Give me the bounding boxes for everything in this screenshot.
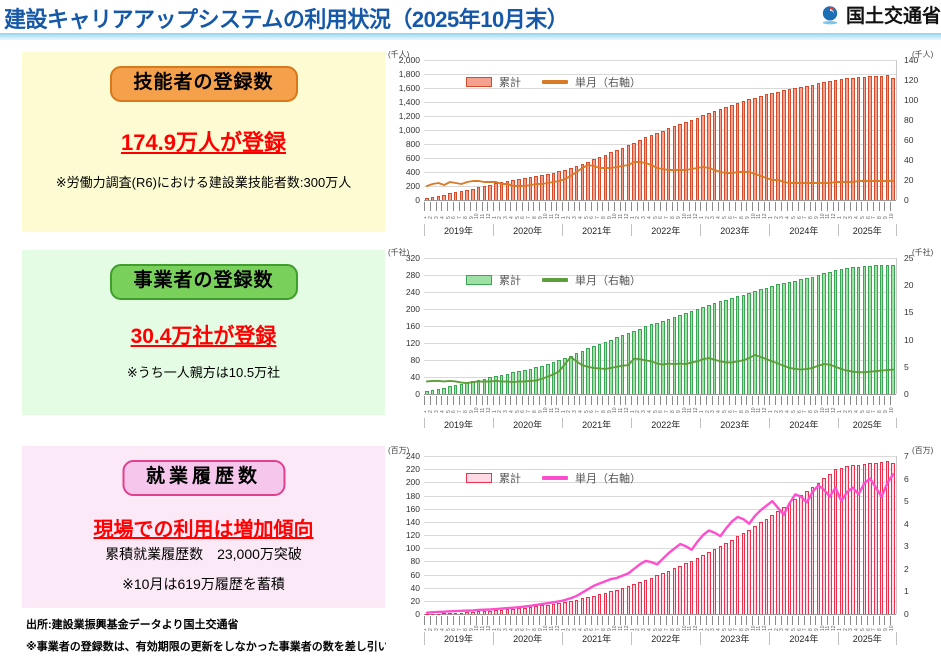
gridline [424,614,896,615]
gridline [424,394,896,395]
panel-business-registrations: 事業者の登録数 30.4万社が登録 ※うち一人親方は10.5万社 [22,250,385,415]
month-label: 10 [890,213,895,219]
panel-work-history: 就業履歴数 現場での利用は増加傾向 累積就業履歴数 23,000万突破 ※10月… [22,446,385,608]
y-axis-tick-left: 100 [386,543,420,553]
y-axis-tick-left: 120 [386,530,420,540]
month-tick [545,396,546,405]
month-tick [677,396,678,405]
month-tick [579,396,580,405]
y-axis-tick-right: 100 [904,95,918,105]
month-tick [505,202,506,211]
month-tick [873,396,874,405]
y-axis-tick-left: 1,600 [386,83,420,93]
legend-label-monthly: 単月（右軸） [575,470,641,486]
y-axis-tick-left: 60 [386,570,420,580]
chart-legend: 累計単月（右軸） [466,470,641,486]
month-tick [821,396,822,405]
month-label: 4 [441,628,446,631]
month-tick [625,202,626,211]
month-tick [620,202,621,211]
chart-legend: 累計単月（右軸） [466,74,641,90]
month-tick [695,396,696,405]
month-tick [815,202,816,211]
month-label: 9 [677,216,682,219]
legend-line-monthly [542,80,568,83]
x-axis-month-labels: 1234567891011121234567891011121234567891… [424,624,896,631]
month-tick [798,396,799,405]
page-header: 建設キャリアアップシステムの利用状況（2025年10月末） 国土交通省 [0,0,941,40]
y-axis-tick-left: 600 [386,153,420,163]
y-axis-tick-left: 40 [386,372,420,382]
month-tick [752,202,753,211]
month-tick [729,396,730,405]
month-tick [568,202,569,211]
y-axis-tick-right: 3 [904,541,909,551]
month-tick [666,202,667,211]
y-axis-tick-left: 200 [386,304,420,314]
month-tick [441,396,442,405]
month-tick [804,396,805,405]
month-tick [758,396,759,405]
year-separator [838,632,839,645]
legend-label-monthly: 単月（右軸） [575,272,641,288]
chart-legend: 累計単月（右軸） [466,272,641,288]
month-tick [447,396,448,405]
y-axis-tick-left: 2,000 [386,55,420,65]
month-tick [493,202,494,211]
month-tick [528,396,529,405]
month-tick [505,396,506,405]
plot-right-border [896,456,897,614]
month-tick [821,202,822,211]
badge-business-registrations: 事業者の登録数 [109,264,297,300]
month-label: 9 [677,410,682,413]
month-tick [867,396,868,405]
month-tick [648,396,649,405]
badge-work-history: 就業履歴数 [122,460,285,496]
month-tick [700,202,701,211]
month-tick [867,202,868,211]
year-label: 2019年 [424,632,493,645]
month-label: 4 [441,410,446,413]
month-tick [752,396,753,405]
month-tick [735,396,736,405]
chart-business-registrations: (千社)(千社)04080120160200240280320051015202… [386,236,941,428]
y-axis-tick-left: 1,200 [386,111,420,121]
year-label: 2023年 [700,632,769,645]
month-tick [528,202,529,211]
month-tick [833,202,834,211]
month-tick [516,396,517,405]
month-tick [741,202,742,211]
month-tick [464,396,465,405]
month-tick [453,396,454,405]
month-tick [447,202,448,211]
month-tick [781,396,782,405]
y-axis-tick-left: 800 [386,139,420,149]
y-axis-tick-left: 240 [386,287,420,297]
year-label: 2024年 [769,632,838,645]
month-tick [706,396,707,405]
y-axis-tick-left: 80 [386,556,420,566]
month-tick [810,202,811,211]
month-tick [729,202,730,211]
month-tick [608,396,609,405]
month-tick [522,396,523,405]
legend-swatch-cumulative [466,275,492,285]
month-label: 10 [890,625,895,631]
month-tick [579,202,580,211]
month-tick [539,396,540,405]
month-tick [850,396,851,405]
month-tick [562,202,563,211]
year-label: 2025年 [838,632,896,645]
month-tick [718,202,719,211]
x-axis-month-ticks [424,396,896,405]
month-tick [482,396,483,405]
month-tick [683,396,684,405]
y-axis-tick-right: 120 [904,75,918,85]
month-tick [424,202,425,211]
month-tick [890,202,891,211]
month-tick [712,396,713,405]
month-tick [827,202,828,211]
year-label: 2021年 [562,632,631,645]
month-tick [643,202,644,211]
month-tick [510,396,511,405]
year-label: 2020年 [493,632,562,645]
bar-cumulative [425,614,429,615]
legend-line-monthly [542,278,568,281]
y-axis-tick-left: 180 [386,491,420,501]
header-divider [0,33,941,40]
month-tick [585,202,586,211]
y-axis-tick-right: 15 [904,307,913,317]
month-tick [591,202,592,211]
month-tick [706,202,707,211]
month-tick [545,202,546,211]
month-tick [764,396,765,405]
year-separator [493,632,494,645]
month-tick [792,396,793,405]
legend-label-cumulative: 累計 [499,470,521,486]
y-axis-tick-left: 200 [386,477,420,487]
month-tick [804,202,805,211]
y-axis-tick-left: 140 [386,517,420,527]
month-tick [625,396,626,405]
month-tick [637,202,638,211]
month-tick [746,202,747,211]
month-label: 9 [677,628,682,631]
month-tick [487,202,488,211]
y-axis-tick-left: 220 [386,464,420,474]
y-axis-tick-right: 10 [904,335,913,345]
month-tick [499,396,500,405]
y-axis-tick-right: 25 [904,253,913,263]
month-tick [775,396,776,405]
month-tick [764,202,765,211]
legend-line-monthly [542,476,568,479]
month-tick [482,202,483,211]
chart-skilled-registrations: (千人)(千人)02004006008001,0001,2001,4001,60… [386,48,941,236]
month-tick [890,396,891,405]
y-axis-unit-right: (千社) [912,247,933,258]
month-tick [884,396,885,405]
month-tick [827,396,828,405]
month-tick [654,396,655,405]
month-tick [591,396,592,405]
x-axis-month-labels: 1234567891011121234567891011121234567891… [424,212,896,219]
y-axis-tick-left: 40 [386,583,420,593]
y-axis-tick-right: 5 [904,362,909,372]
y-axis-tick-left: 0 [386,195,420,205]
month-tick [689,396,690,405]
y-axis-tick-right: 7 [904,451,909,461]
month-tick [608,202,609,211]
y-axis-tick-left: 120 [386,338,420,348]
month-tick [585,396,586,405]
month-tick [551,396,552,405]
month-tick [769,202,770,211]
month-tick [838,396,839,405]
note-business: ※うち一人親方は10.5万社 [22,362,385,381]
month-tick [430,396,431,405]
y-axis-tick-right: 5 [904,496,909,506]
month-tick [551,202,552,211]
sub-history-monthly: ※10月は619万履歴を蓄積 [22,574,385,594]
month-tick [746,396,747,405]
y-axis-tick-left: 0 [386,609,420,619]
month-tick [735,202,736,211]
headline-work-history-trend: 現場での利用は増加傾向 [22,513,385,542]
month-tick [700,396,701,405]
month-tick [648,202,649,211]
month-tick [850,202,851,211]
ministry-logo: 国土交通省 [819,1,941,28]
month-tick [718,396,719,405]
month-tick [631,396,632,405]
month-tick [539,202,540,211]
month-tick [476,202,477,211]
month-tick [464,202,465,211]
month-tick [562,396,563,405]
gridline [424,200,896,201]
month-tick [838,202,839,211]
month-tick [810,396,811,405]
month-tick [436,202,437,211]
month-tick [436,396,437,405]
month-tick [689,202,690,211]
month-tick [614,396,615,405]
month-tick [499,202,500,211]
legend-swatch-cumulative [466,473,492,483]
month-tick [568,396,569,405]
legend-label-cumulative: 累計 [499,74,521,90]
x-axis-month-ticks [424,202,896,211]
y-axis-tick-left: 0 [386,389,420,399]
y-axis-tick-right: 20 [904,280,913,290]
year-separator [631,632,632,645]
legend-label-monthly: 単月（右軸） [575,74,641,90]
month-tick [493,396,494,405]
mlit-swirl-icon [819,4,841,26]
y-axis-tick-left: 320 [386,253,420,263]
chart-work-history: (百万)(百万)02040608010012014016018020022024… [386,428,941,662]
x-axis-month-labels: 1234567891011121234567891011121234567891… [424,406,896,413]
month-tick [833,396,834,405]
month-tick [597,396,598,405]
month-tick [510,202,511,211]
month-tick [741,396,742,405]
month-tick [620,396,621,405]
month-tick [844,202,845,211]
footnote-note: ※事業者の登録数は、有効期限の更新をしなかった事業者の数を差し引いている [26,638,421,654]
month-tick [476,396,477,405]
panel-skilled-registrations: 技能者の登録数 174.9万人が登録 ※労働力調査(R6)における建設業技能者数… [22,52,385,232]
month-tick [775,202,776,211]
y-axis-tick-left: 80 [386,355,420,365]
year-separator [896,632,897,645]
ministry-name: 国土交通省 [846,1,941,28]
month-tick [654,202,655,211]
month-tick [723,202,724,211]
y-axis-tick-left: 280 [386,270,420,280]
y-axis-tick-right: 80 [904,115,913,125]
month-tick [522,202,523,211]
month-tick [798,202,799,211]
month-tick [884,202,885,211]
month-tick [712,202,713,211]
month-tick [424,396,425,405]
y-axis-tick-left: 160 [386,504,420,514]
month-tick [861,202,862,211]
month-tick [597,202,598,211]
x-axis-year-band: 2019年2020年2021年2022年2023年2024年2025年 [424,632,896,646]
month-tick [879,202,880,211]
month-tick [430,202,431,211]
month-tick [453,202,454,211]
month-tick [602,202,603,211]
month-tick [459,202,460,211]
month-tick [861,396,862,405]
year-separator [562,632,563,645]
month-tick [602,396,603,405]
legend-swatch-cumulative [466,77,492,87]
month-tick [769,396,770,405]
plot-right-border [896,258,897,394]
y-axis-tick-right: 2 [904,564,909,574]
y-axis-tick-right: 40 [904,155,913,165]
month-tick [470,202,471,211]
y-axis-tick-left: 160 [386,321,420,331]
sub-history-cumulative: 累積就業履歴数 23,000万突破 [22,544,385,564]
month-tick [660,396,661,405]
month-tick [556,202,557,211]
month-tick [856,202,857,211]
y-axis-tick-left: 1,400 [386,97,420,107]
month-tick [459,396,460,405]
month-tick [758,202,759,211]
badge-skilled-registrations: 技能者の登録数 [109,66,297,102]
note-skilled: ※労働力調査(R6)における建設業技能者数:300万人 [22,172,385,191]
y-axis-tick-right: 6 [904,474,909,484]
month-tick [660,202,661,211]
month-tick [856,396,857,405]
month-tick [533,202,534,211]
month-tick [781,202,782,211]
month-label: 4 [441,216,446,219]
y-axis-tick-right: 0 [904,389,909,399]
y-axis-tick-right: 0 [904,609,909,619]
month-tick [879,396,880,405]
month-tick [844,396,845,405]
y-axis-tick-left: 20 [386,596,420,606]
y-axis-tick-right: 60 [904,135,913,145]
month-tick [643,396,644,405]
month-label: 10 [890,407,895,413]
month-tick [516,202,517,211]
month-tick [873,202,874,211]
month-tick [677,202,678,211]
y-axis-tick-right: 20 [904,175,913,185]
month-tick [574,396,575,405]
y-axis-tick-left: 1,800 [386,69,420,79]
month-tick [470,396,471,405]
month-tick [487,396,488,405]
page-title: 建設キャリアアップシステムの利用状況（2025年10月末） [4,2,568,34]
y-axis-tick-left: 400 [386,167,420,177]
y-axis-tick-left: 1,000 [386,125,420,135]
month-tick [787,202,788,211]
month-tick [637,396,638,405]
headline-skilled-count: 174.9万人が登録 [22,125,385,157]
y-axis-unit-right: (百万) [912,445,933,456]
month-tick [683,202,684,211]
month-tick [666,396,667,405]
headline-business-count: 30.4万社が登録 [22,320,385,350]
y-axis-tick-right: 4 [904,519,909,529]
month-tick [792,202,793,211]
month-tick [614,202,615,211]
month-tick [815,396,816,405]
month-tick [441,202,442,211]
footnote-source: 出所:建設業振興基金データより国土交通省 [26,616,238,632]
month-tick [631,202,632,211]
y-axis-tick-right: 1 [904,586,909,596]
month-tick [787,396,788,405]
month-tick [574,202,575,211]
year-separator [769,632,770,645]
month-tick [672,396,673,405]
month-tick [695,202,696,211]
plot-right-border [896,60,897,200]
year-label: 2022年 [631,632,700,645]
y-axis-tick-right: 140 [904,55,918,65]
month-tick [723,396,724,405]
month-tick [672,202,673,211]
month-tick [533,396,534,405]
month-tick [556,396,557,405]
y-axis-tick-left: 200 [386,181,420,191]
y-axis-tick-left: 240 [386,451,420,461]
legend-label-cumulative: 累計 [499,272,521,288]
year-separator [700,632,701,645]
year-separator [424,632,425,645]
y-axis-tick-right: 0 [904,195,909,205]
